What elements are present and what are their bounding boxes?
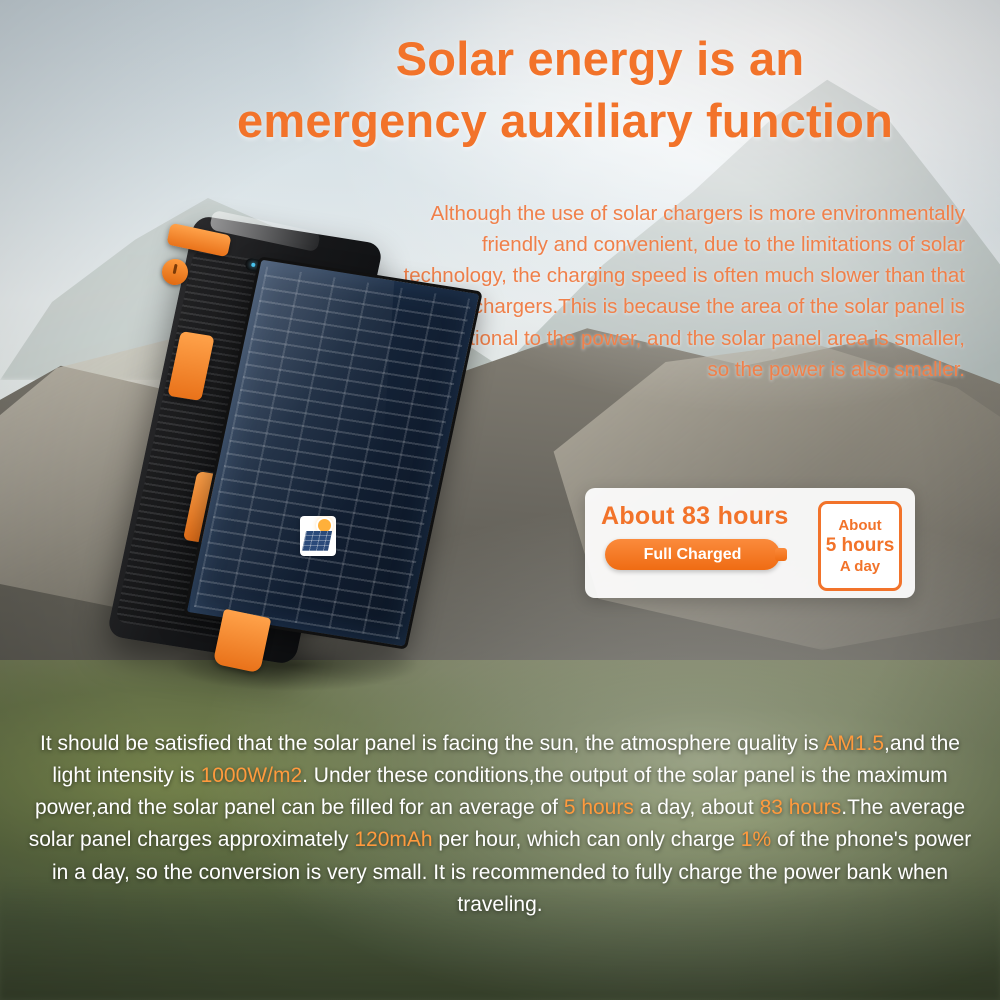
headline-line-1: Solar energy is an	[150, 28, 980, 90]
promo-banner: Solar energy is an emergency auxiliary f…	[0, 0, 1000, 1000]
pb-highlight-am15: AM1.5	[823, 732, 884, 755]
paragraph-bottom: It should be satisfied that the solar pa…	[22, 728, 978, 921]
full-charged-badge: Full Charged	[605, 539, 780, 570]
pb-highlight-percent: 1%	[741, 828, 771, 851]
pb-seg-1: It should be satisfied that the solar pa…	[40, 732, 823, 755]
headline-line-2: emergency auxiliary function	[150, 90, 980, 152]
card-title: About 83 hours	[601, 502, 789, 531]
pb-seg-4: a day, about	[634, 796, 760, 819]
pb-highlight-intensity: 1000W/m2	[201, 764, 303, 787]
pb-highlight-120mah: 120mAh	[354, 828, 432, 851]
badge-line-2: 5 hours	[821, 535, 899, 557]
pb-highlight-83hours: 83 hours	[760, 796, 842, 819]
full-charged-label: Full Charged	[605, 539, 780, 570]
headline: Solar energy is an emergency auxiliary f…	[150, 28, 980, 152]
solar-panel-sun-icon	[300, 516, 336, 556]
daily-hours-badge: About 5 hours A day	[818, 501, 902, 591]
led-1	[251, 263, 256, 268]
pb-highlight-5hours: 5 hours	[564, 796, 634, 819]
mini-solar-panel-icon	[302, 531, 332, 551]
pb-seg-6: per hour, which can only charge	[433, 828, 741, 851]
solar-power-bank-image	[140, 215, 540, 685]
badge-line-1: About	[821, 517, 899, 534]
badge-line-3: A day	[821, 558, 899, 575]
charging-time-card: About 83 hours Full Charged About 5 hour…	[585, 488, 915, 598]
